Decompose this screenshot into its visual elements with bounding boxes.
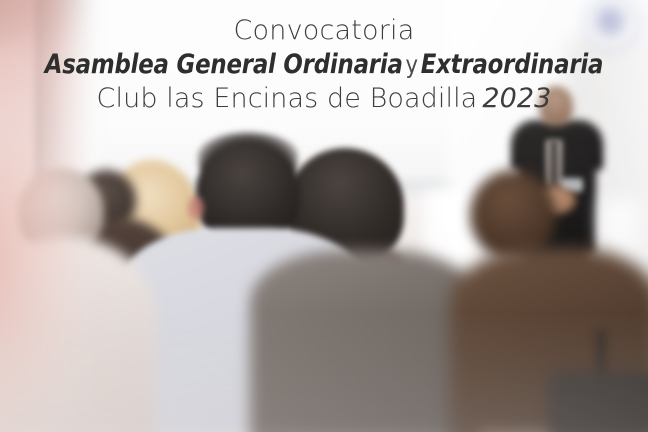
headline-assembly-extraordinary: Extraordinaria: [421, 49, 604, 80]
headline-venue-name: Club las Encinas de Boadilla: [97, 83, 478, 114]
headline-year: 2023: [477, 83, 551, 114]
headline-line-convocatoria: Convocatoria: [0, 14, 648, 48]
speaker-tie: [550, 140, 558, 192]
audience-brown-head: [470, 170, 556, 260]
conference-announcement-poster: Convocatoria Asamblea General Ordinariay…: [0, 0, 648, 432]
headline-assembly-ordinary: Asamblea General Ordinaria: [45, 49, 403, 80]
depth-of-field-bottom: [0, 312, 648, 432]
headline-line-assembly: Asamblea General OrdinariayExtraordinari…: [19, 48, 628, 82]
poster-headline: Convocatoria Asamblea General Ordinariay…: [0, 14, 648, 116]
headline-conjunction: y: [403, 50, 421, 79]
audience-spiky-ear: [188, 196, 204, 220]
headline-line-venue: Club las Encinas de Boadilla2023: [0, 82, 648, 116]
